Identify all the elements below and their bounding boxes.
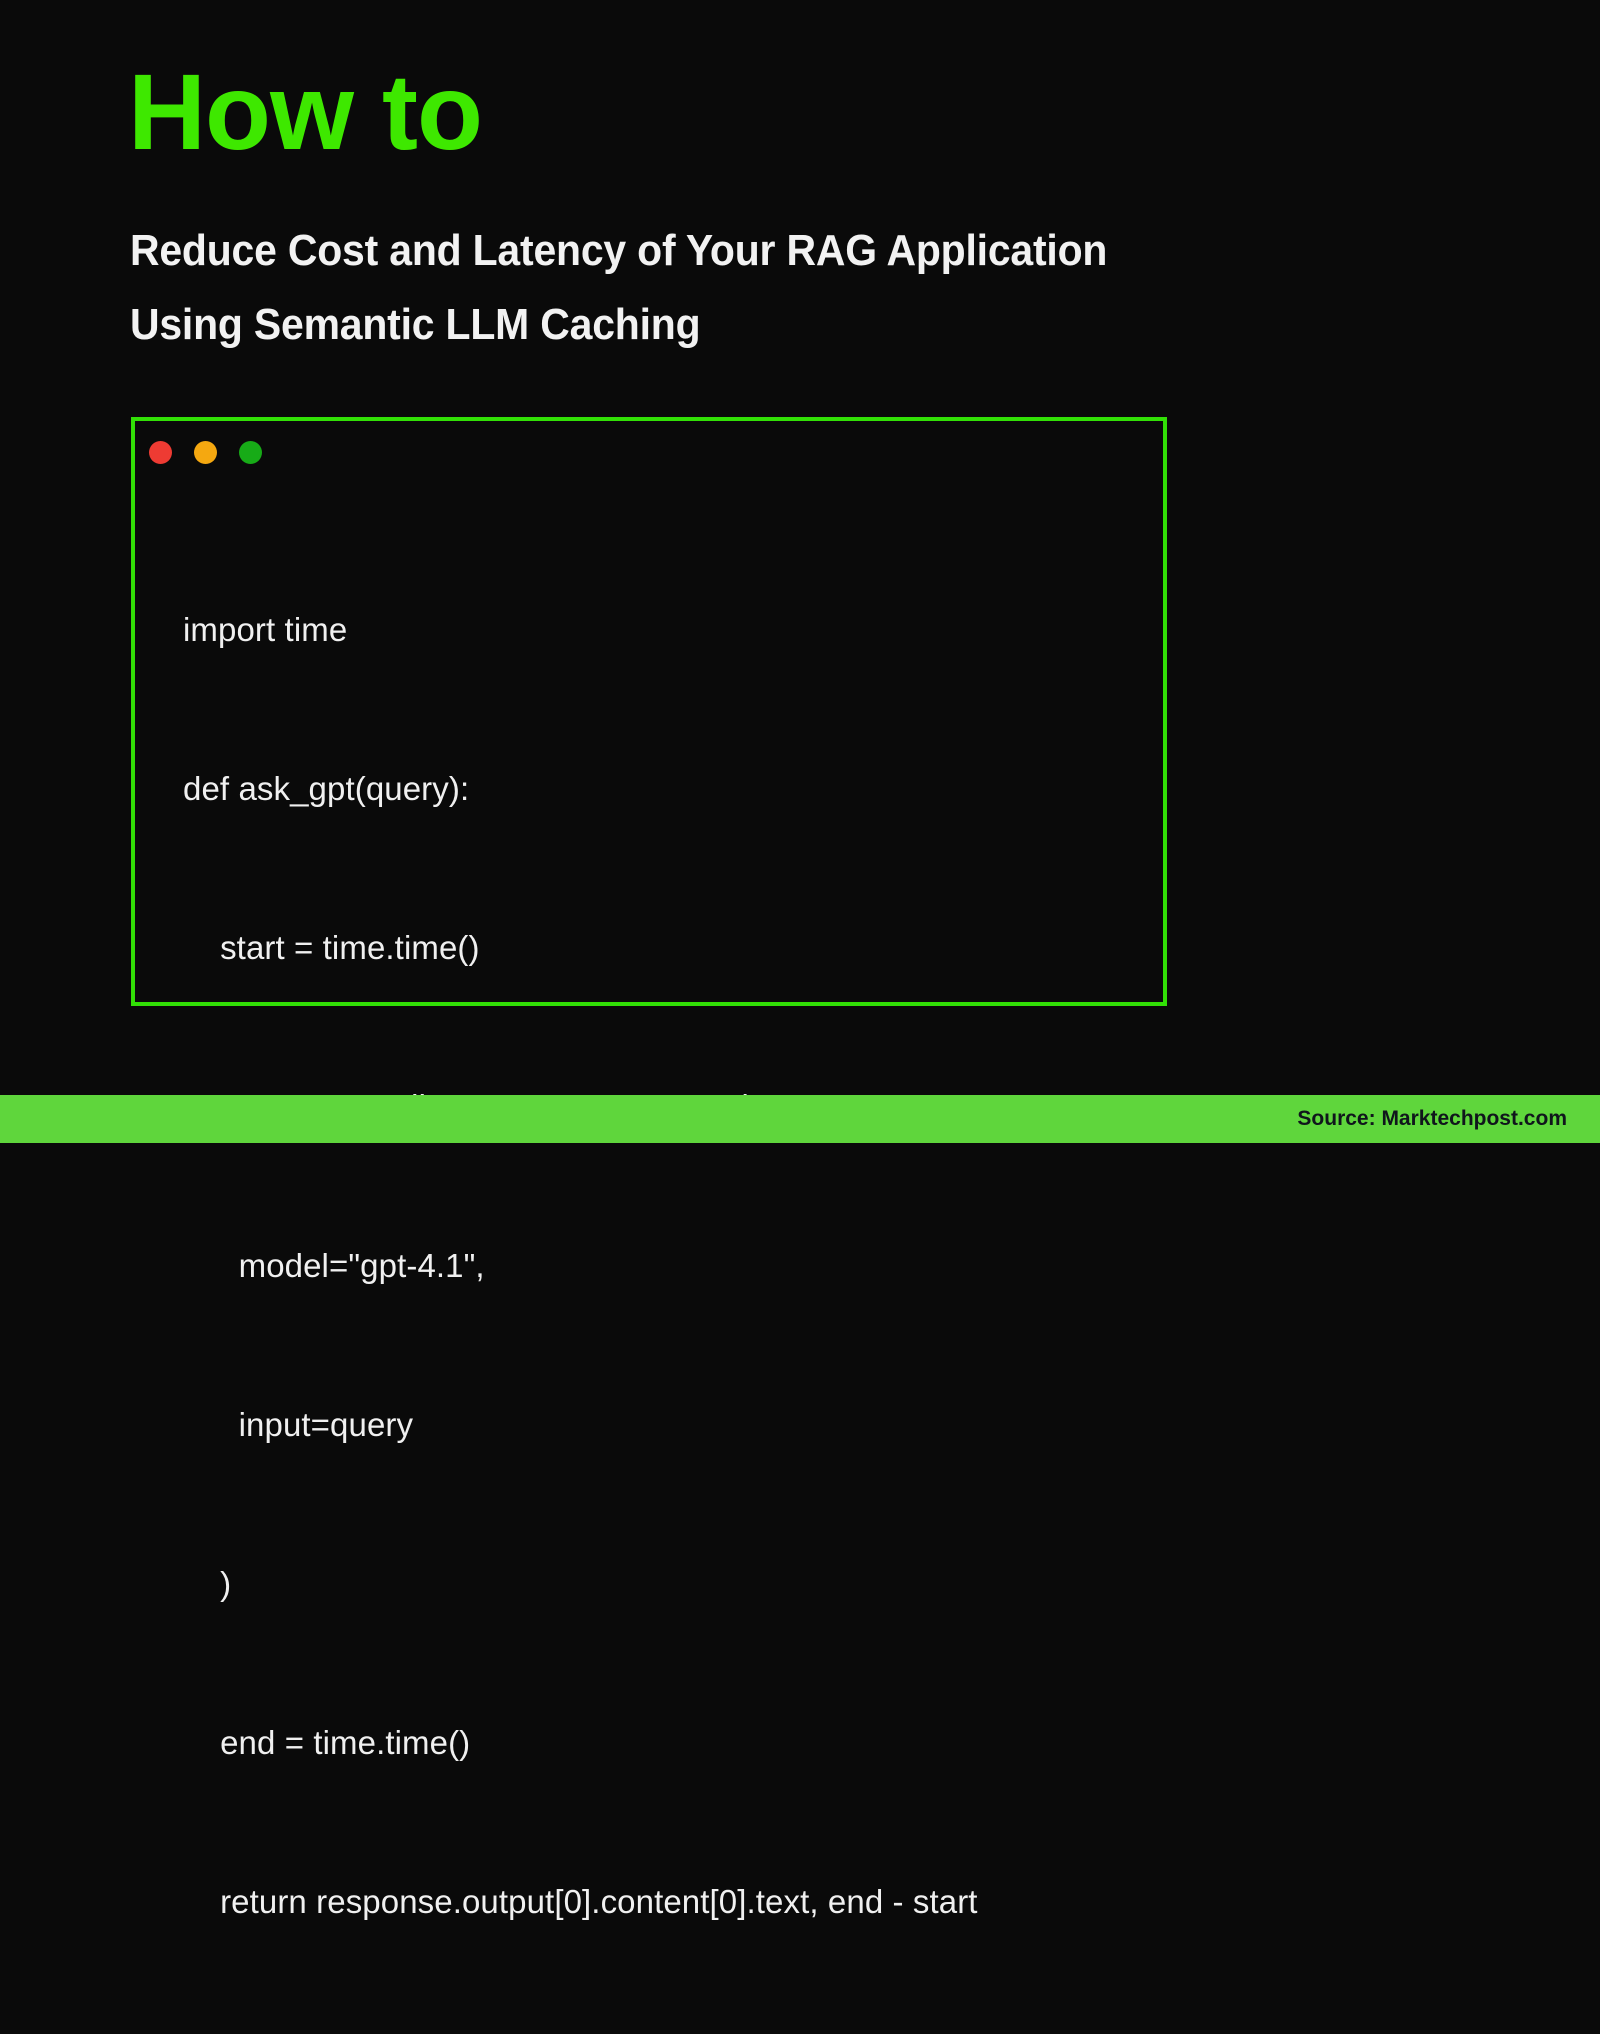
minimize-icon[interactable] (194, 441, 217, 464)
page-title-line-1: Reduce Cost and Latency of Your RAG Appl… (130, 214, 1302, 288)
code-line: return response.output[0].content[0].tex… (183, 1875, 1163, 1928)
maximize-icon[interactable] (239, 441, 262, 464)
close-icon[interactable] (149, 441, 172, 464)
source-attribution: Source: Marktechpost.com (1297, 1107, 1567, 1131)
page-title: Reduce Cost and Latency of Your RAG Appl… (130, 214, 1302, 362)
code-line: def ask_gpt(query): (183, 762, 1163, 815)
code-window: import time def ask_gpt(query): start = … (131, 417, 1167, 1006)
page-title-line-2: Using Semantic LLM Caching (130, 288, 1302, 362)
footer-bar: Source: Marktechpost.com (0, 1095, 1600, 1143)
code-line: import time (183, 603, 1163, 656)
code-line: end = time.time() (183, 1716, 1163, 1769)
code-window-titlebar (135, 421, 1163, 483)
code-block: import time def ask_gpt(query): start = … (135, 483, 1163, 1002)
code-line: model="gpt-4.1", (183, 1239, 1163, 1292)
code-line: input=query (183, 1398, 1163, 1451)
code-line: start = time.time() (183, 921, 1163, 974)
slide-canvas: How to Reduce Cost and Latency of Your R… (0, 0, 1600, 1143)
code-line: ) (183, 1557, 1163, 1610)
page-kicker: How to (128, 58, 482, 166)
